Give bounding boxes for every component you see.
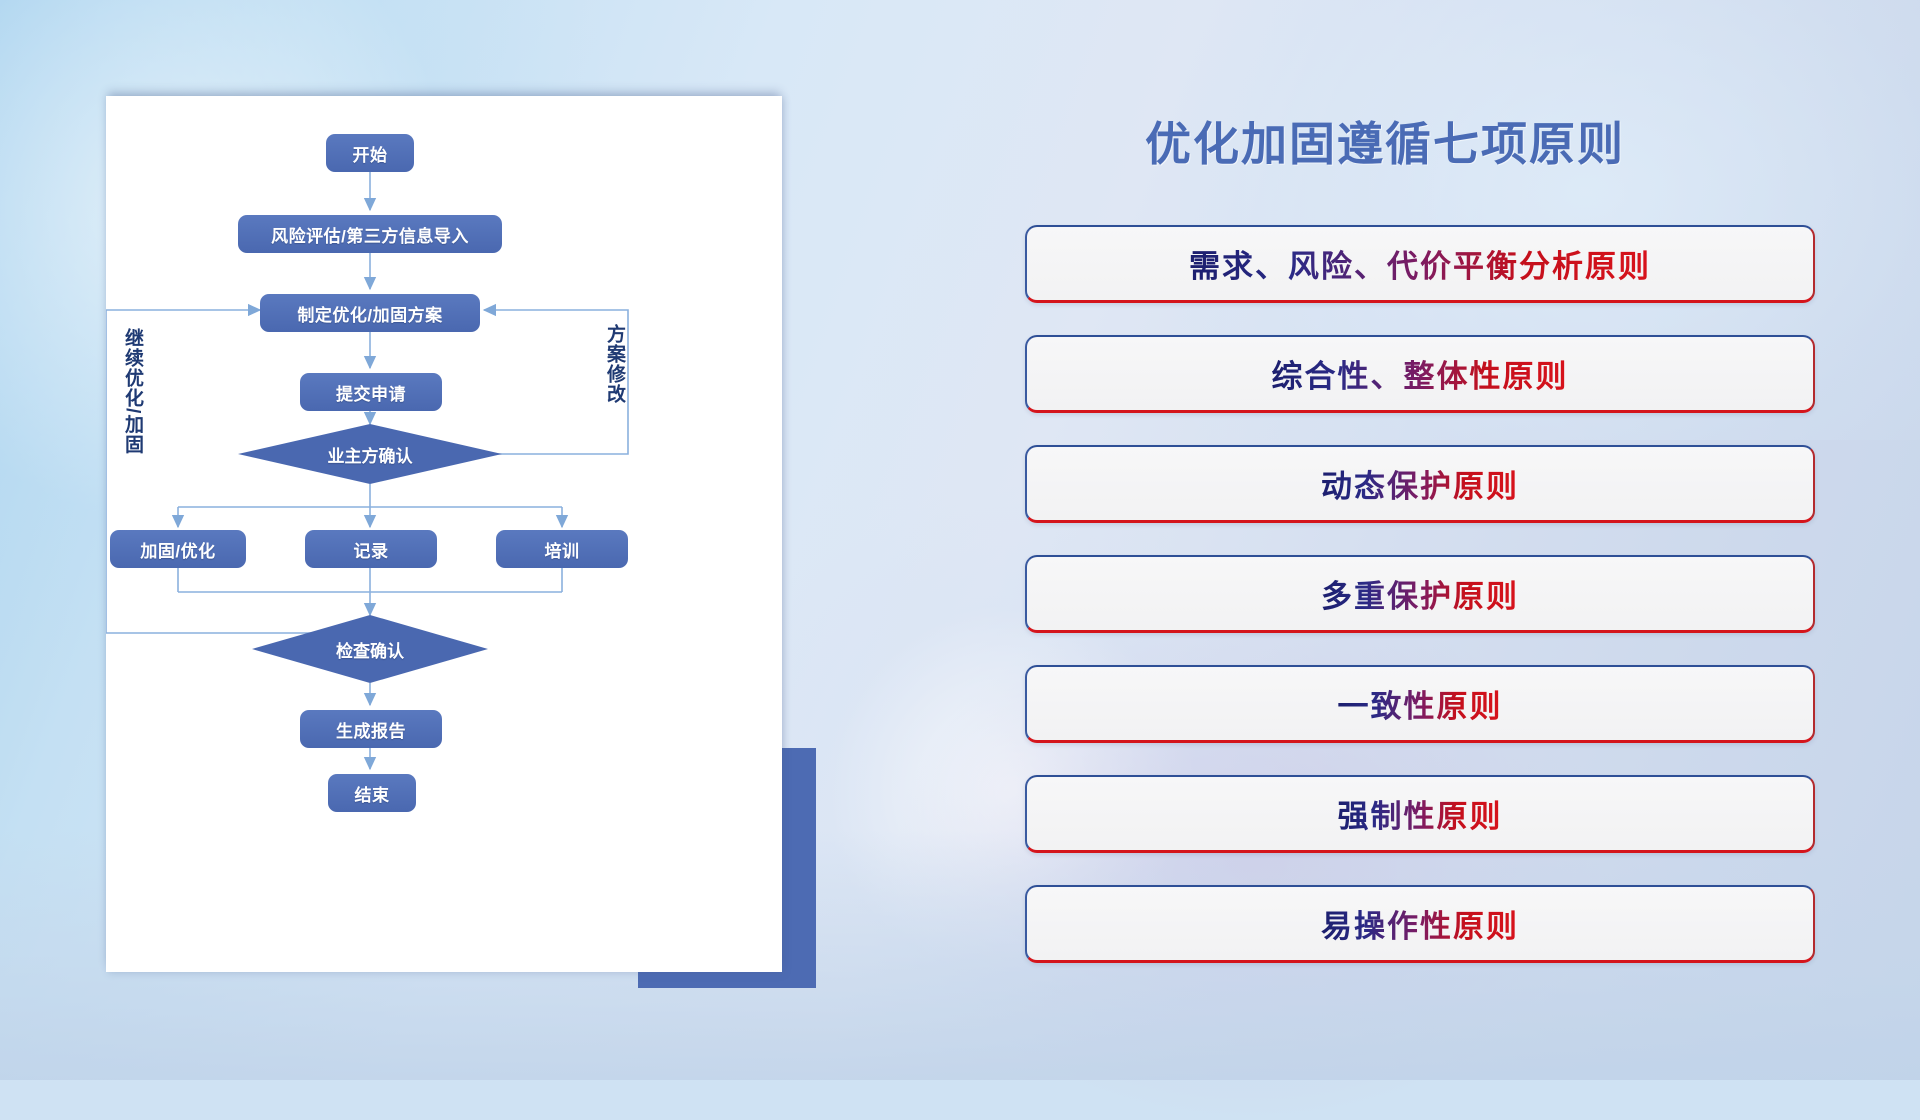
flow-node-record[interactable]: 记录 [305, 530, 437, 568]
principle-card-1[interactable]: 需求、风险、代价平衡分析原则 [1025, 225, 1815, 303]
flow-node-plan[interactable]: 制定优化/加固方案 [260, 294, 480, 332]
flow-edge-label-continue-optimize: 继续优化/加固 [122, 328, 142, 454]
principle-label: 一致性原则 [1338, 681, 1503, 726]
principle-label: 易操作性原则 [1321, 901, 1519, 946]
principle-label: 需求、风险、代价平衡分析原则 [1189, 241, 1651, 286]
principle-label: 多重保护原则 [1321, 571, 1519, 616]
principles-panel: 优化加固遵循七项原则 需求、风险、代价平衡分析原则 综合性、整体性原则 动态保护… [1020, 0, 1920, 1080]
flow-edge-label-plan-revision: 方案修改 [604, 324, 624, 404]
principle-card-6[interactable]: 强制性原则 [1025, 775, 1815, 853]
principle-card-4[interactable]: 多重保护原则 [1025, 555, 1815, 633]
flow-node-risk-assessment[interactable]: 风险评估/第三方信息导入 [238, 215, 502, 253]
flow-node-training[interactable]: 培训 [496, 530, 628, 568]
flow-node-submit-application[interactable]: 提交申请 [300, 373, 442, 411]
principles-panel-title: 优化加固遵循七项原则 [1145, 108, 1625, 174]
flow-node-start[interactable]: 开始 [326, 134, 414, 172]
principle-card-2[interactable]: 综合性、整体性原则 [1025, 335, 1815, 413]
principle-card-7[interactable]: 易操作性原则 [1025, 885, 1815, 963]
flowchart-canvas: 开始 风险评估/第三方信息导入 制定优化/加固方案 提交申请 业主方确认 加固/… [106, 96, 782, 972]
flowchart-card: 开始 风险评估/第三方信息导入 制定优化/加固方案 提交申请 业主方确认 加固/… [106, 96, 782, 972]
principle-card-5[interactable]: 一致性原则 [1025, 665, 1815, 743]
flow-node-generate-report[interactable]: 生成报告 [300, 710, 442, 748]
flow-node-end[interactable]: 结束 [328, 774, 416, 812]
principle-label: 综合性、整体性原则 [1272, 351, 1569, 396]
principle-label: 强制性原则 [1338, 791, 1503, 836]
flow-node-reinforce[interactable]: 加固/优化 [110, 530, 246, 568]
principle-label: 动态保护原则 [1321, 461, 1519, 506]
principles-list: 需求、风险、代价平衡分析原则 综合性、整体性原则 动态保护原则 多重保护原则 一… [1025, 225, 1815, 995]
principle-card-3[interactable]: 动态保护原则 [1025, 445, 1815, 523]
